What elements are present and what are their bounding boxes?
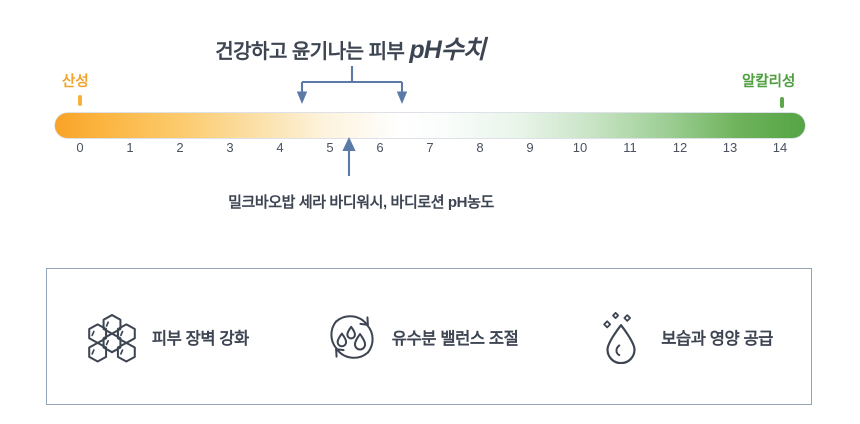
- ph-tick-labels: 01234567891011121314: [55, 140, 805, 162]
- feature-item-skin-barrier: 피부 장벽 강화: [81, 310, 253, 364]
- ph-tick-label: 3: [226, 140, 233, 155]
- ph-tick-label: 9: [526, 140, 533, 155]
- ph-tick-label: 4: [276, 140, 283, 155]
- ph-tick-label: 12: [673, 140, 687, 155]
- ph-scale-title: 건강하고 윤기나는 피부 pH수치: [0, 30, 700, 66]
- ph-tick-label: 14: [773, 140, 787, 155]
- ph-scale-section: 건강하고 윤기나는 피부 pH수치 산성 알칼리성 01234567891011…: [0, 0, 860, 250]
- alkaline-label: 알칼리성: [742, 70, 795, 91]
- ph-tick-label: 10: [573, 140, 587, 155]
- ph-tick-label: 11: [623, 140, 637, 155]
- alkaline-tick-mark: [780, 97, 784, 108]
- ph-tick-label: 0: [76, 140, 83, 155]
- water-oil-balance-icon: [325, 310, 379, 364]
- feature-label: 피부 장벽 강화: [152, 325, 249, 349]
- feature-benefits-box: 피부 장벽 강화 유수분 밸런스 조절: [46, 268, 812, 405]
- range-bracket-icon: [296, 66, 408, 108]
- acidic-tick-mark: [78, 95, 82, 106]
- ph-tick-label: 6: [376, 140, 383, 155]
- acidic-label: 산성: [62, 70, 89, 91]
- ph-tick-label: 7: [426, 140, 433, 155]
- feature-label: 유수분 밸런스 조절: [392, 325, 519, 349]
- ph-value-marker-arrow: [338, 136, 360, 176]
- ph-tick-label: 13: [723, 140, 737, 155]
- ph-title-accent: pH수치: [409, 36, 484, 64]
- ph-tick-label: 2: [176, 140, 183, 155]
- honeycomb-icon: [85, 310, 139, 364]
- feature-item-moisture-balance: 유수분 밸런스 조절: [321, 310, 523, 364]
- ph-tick-label: 1: [126, 140, 133, 155]
- feature-item-hydration-nutrition: 보습과 영양 공급: [590, 310, 777, 364]
- ph-gradient-bar: [55, 113, 805, 138]
- ph-tick-label: 5: [326, 140, 333, 155]
- ph-title-main: 건강하고 윤기나는 피부: [215, 41, 409, 63]
- feature-label: 보습과 영양 공급: [661, 325, 773, 349]
- ph-product-caption: 밀크바오밥 세라 바디워시, 바디로션 pH농도: [0, 191, 722, 212]
- sparkle-droplet-icon: [594, 310, 648, 364]
- ph-tick-label: 8: [476, 140, 483, 155]
